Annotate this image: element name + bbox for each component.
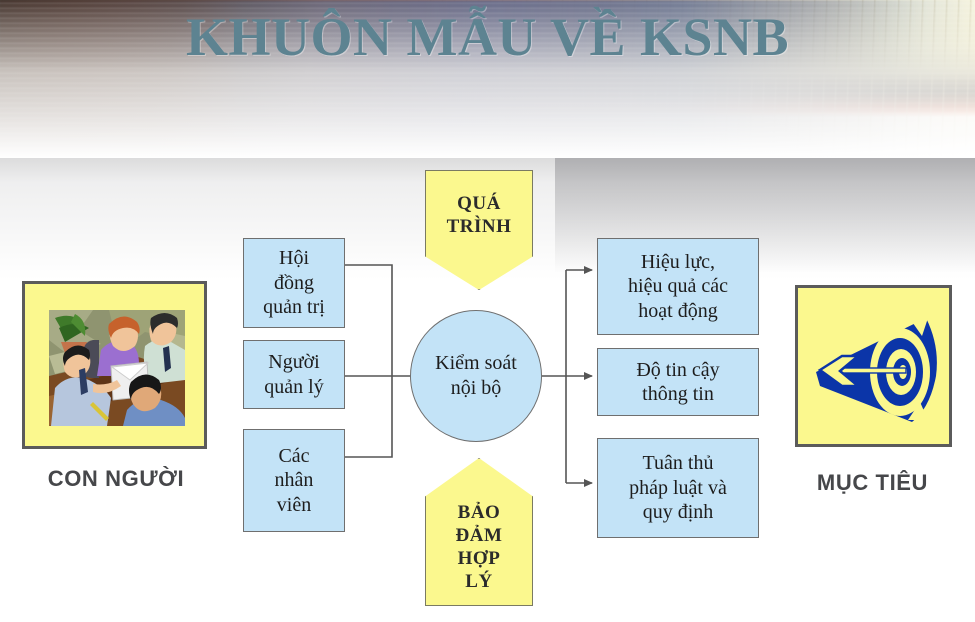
box-cac-nhan-vien[interactable]: Các nhân viên	[243, 429, 345, 532]
left-item-1-line1: Người	[264, 350, 323, 374]
panel-con-nguoi[interactable]	[22, 281, 207, 449]
pentagon-bottom-line3: HỢP	[456, 548, 503, 571]
right-item-1-line1: Độ tin cậy	[636, 358, 719, 382]
box-tuan-thu-phap-luat[interactable]: Tuân thủ pháp luật và quy định	[597, 438, 759, 538]
pentagon-bottom-line2: ĐẢM	[456, 525, 503, 548]
pentagon-qua-trinh[interactable]: QUÁ TRÌNH	[425, 170, 533, 290]
page-title: KHUÔN MẪU VỀ KSNB	[0, 6, 975, 68]
pentagon-bottom-line1: BẢO	[456, 502, 503, 525]
left-item-0-line3: quản trị	[263, 295, 325, 319]
right-item-2-line1: Tuân thủ	[629, 451, 727, 475]
pentagon-top-line1: QUÁ	[447, 193, 512, 216]
people-meeting-clipart	[49, 310, 185, 426]
center-circle-kiem-soat-noi-bo[interactable]: Kiểm soát nội bộ	[410, 310, 542, 442]
box-nguoi-quan-ly[interactable]: Người quản lý	[243, 340, 345, 409]
right-item-0-line3: hoạt động	[628, 299, 728, 323]
left-item-2-line1: Các	[275, 444, 314, 468]
right-item-2-line2: pháp luật và	[629, 476, 727, 500]
caption-muc-tieu: MỤC TIÊU	[770, 470, 975, 496]
pentagon-bao-dam-hop-ly[interactable]: BẢO ĐẢM HỢP LÝ	[425, 458, 533, 606]
slide-canvas: KHUÔN MẪU VỀ KSNB QUÁ TRÌNH	[0, 0, 975, 622]
box-hoi-dong-quan-tri[interactable]: Hội đồng quản trị	[243, 238, 345, 328]
box-hieu-luc-hieu-qua[interactable]: Hiệu lực, hiệu quả các hoạt động	[597, 238, 759, 335]
box-do-tin-cay-thong-tin[interactable]: Độ tin cậy thông tin	[597, 348, 759, 416]
left-item-0-line2: đồng	[263, 271, 325, 295]
left-item-2-line2: nhân	[275, 468, 314, 492]
left-item-2-line3: viên	[275, 493, 314, 517]
right-item-0-line2: hiệu quả các	[628, 274, 728, 298]
pentagon-top-line2: TRÌNH	[447, 216, 512, 239]
pentagon-bottom-line4: LÝ	[456, 571, 503, 594]
right-item-2-line3: quy định	[629, 500, 727, 524]
panel-muc-tieu[interactable]	[795, 285, 952, 447]
center-label-line2: nội bộ	[435, 376, 517, 401]
right-item-1-line2: thông tin	[636, 382, 719, 406]
left-item-0-line1: Hội	[263, 246, 325, 270]
target-arrow-icon	[808, 302, 942, 432]
caption-con-nguoi: CON NGƯỜI	[0, 466, 232, 492]
center-label-line1: Kiểm soát	[435, 351, 517, 376]
right-item-0-line1: Hiệu lực,	[628, 250, 728, 274]
left-item-1-line2: quản lý	[264, 375, 323, 399]
